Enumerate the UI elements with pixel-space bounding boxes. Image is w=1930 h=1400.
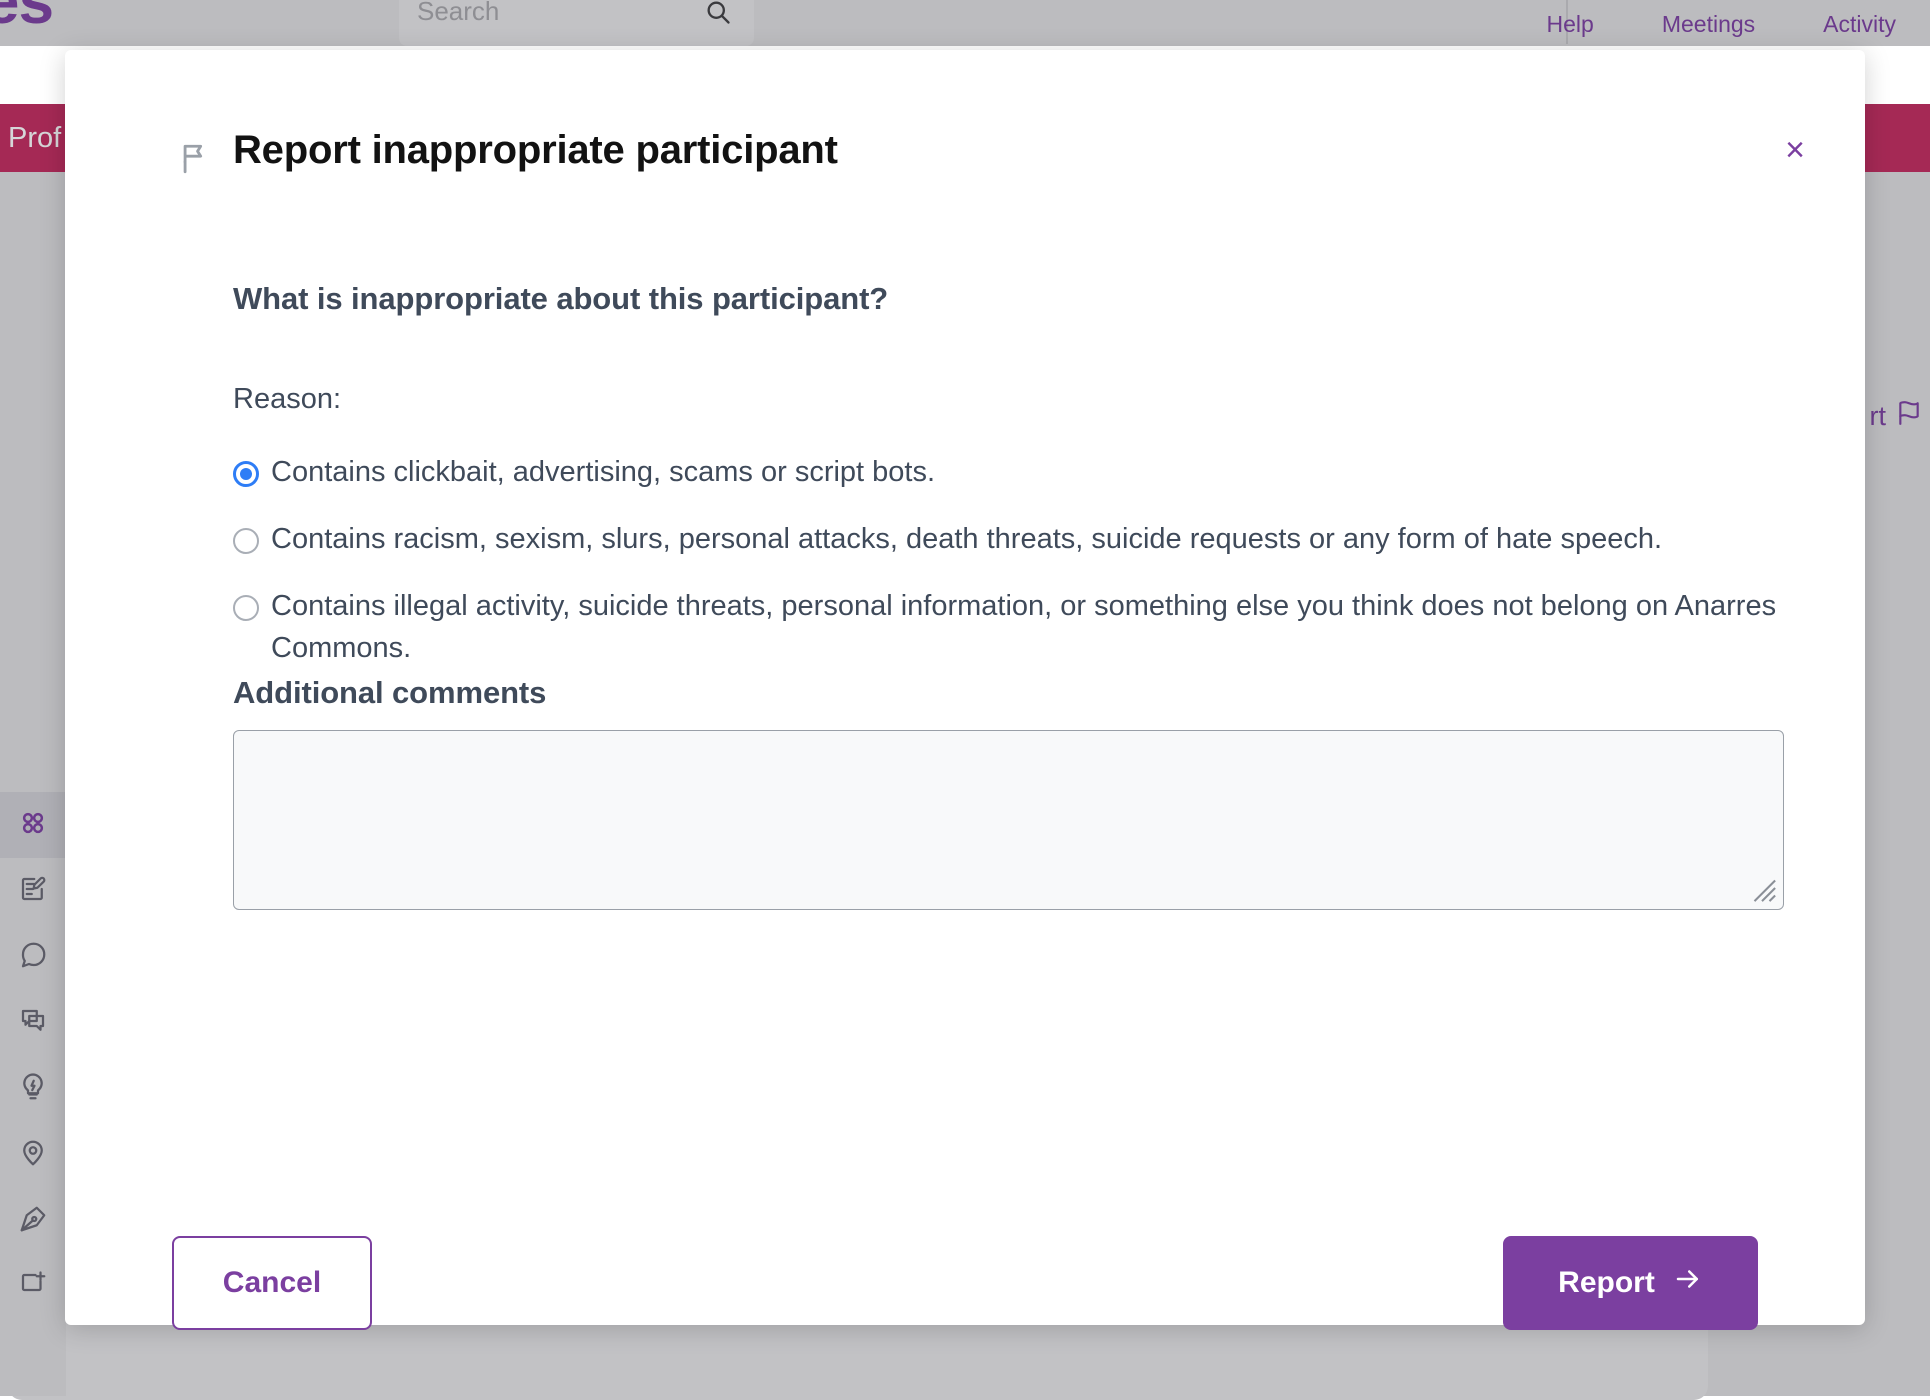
page-title: Report inappropriate participant [233,128,838,173]
radio-option-clickbait[interactable]: Contains clickbait, advertising, scams o… [233,452,1813,493]
sidebar-item-notes[interactable] [0,858,66,924]
report-submit-button[interactable]: Report [1503,1236,1758,1330]
radio-button-unchecked[interactable] [233,595,259,621]
reason-radio-group: Contains clickbait, advertising, scams o… [233,452,1813,695]
search-input[interactable]: Search [417,0,499,27]
cancel-button[interactable]: Cancel [172,1236,372,1330]
apps-grid-icon [18,808,48,843]
sidebar-item-chat[interactable] [0,924,66,990]
sidebar-item-places[interactable] [0,1122,66,1188]
modal-header: Report inappropriate participant × [65,50,1865,170]
radio-option-label: Contains illegal activity, suicide threa… [271,586,1813,668]
nav-link-meetings[interactable]: Meetings [1628,11,1789,46]
add-frame-icon [18,1270,48,1305]
radio-button-unchecked[interactable] [233,528,259,554]
flag-icon [178,142,212,181]
top-navbar: res Search Help Meetings Activity [0,0,1930,46]
additional-comments-textarea[interactable] [233,730,1784,910]
reason-label: Reason: [233,383,341,416]
sidebar-item-add-board[interactable] [0,1254,66,1320]
chat-bubble-icon [18,940,48,975]
sidebar-item-apps[interactable] [0,792,66,858]
location-pin-icon [18,1138,48,1173]
nav-links: Help Meetings Activity [1513,0,1930,46]
sidebar-item-discussions[interactable] [0,990,66,1056]
nav-link-help[interactable]: Help [1513,11,1628,46]
search-box[interactable]: Search [399,0,754,46]
nav-link-activity[interactable]: Activity [1789,11,1930,46]
sidebar-item-author[interactable] [0,1188,66,1254]
search-icon[interactable] [704,0,732,31]
chats-icon [18,1006,48,1041]
background-banner-text: Prof [8,122,61,155]
left-sidebar [0,172,66,1396]
question-heading: What is inappropriate about this partici… [233,281,888,317]
background-report-link[interactable]: rt [1870,400,1923,433]
radio-option-label: Contains racism, sexism, slurs, personal… [271,519,1662,560]
radio-option-hate-speech[interactable]: Contains racism, sexism, slurs, personal… [233,519,1813,560]
app-logo[interactable]: res [0,0,53,38]
flag-icon [1896,400,1922,433]
close-icon[interactable]: × [1773,128,1817,172]
modal-footer: Cancel Report [65,1225,1865,1385]
radio-button-checked[interactable] [233,461,259,487]
sidebar-item-ideas[interactable] [0,1056,66,1122]
radio-option-illegal[interactable]: Contains illegal activity, suicide threa… [233,586,1813,668]
note-edit-icon [18,874,48,909]
arrow-right-icon [1673,1264,1703,1302]
report-button-label: Report [1558,1266,1655,1300]
background-report-label: rt [1870,401,1887,432]
report-participant-modal: Report inappropriate participant × What … [65,50,1865,1325]
radio-option-label: Contains clickbait, advertising, scams o… [271,452,935,493]
pen-nib-icon [18,1204,48,1239]
lightbulb-icon [18,1072,48,1107]
comments-label: Additional comments [233,675,546,711]
